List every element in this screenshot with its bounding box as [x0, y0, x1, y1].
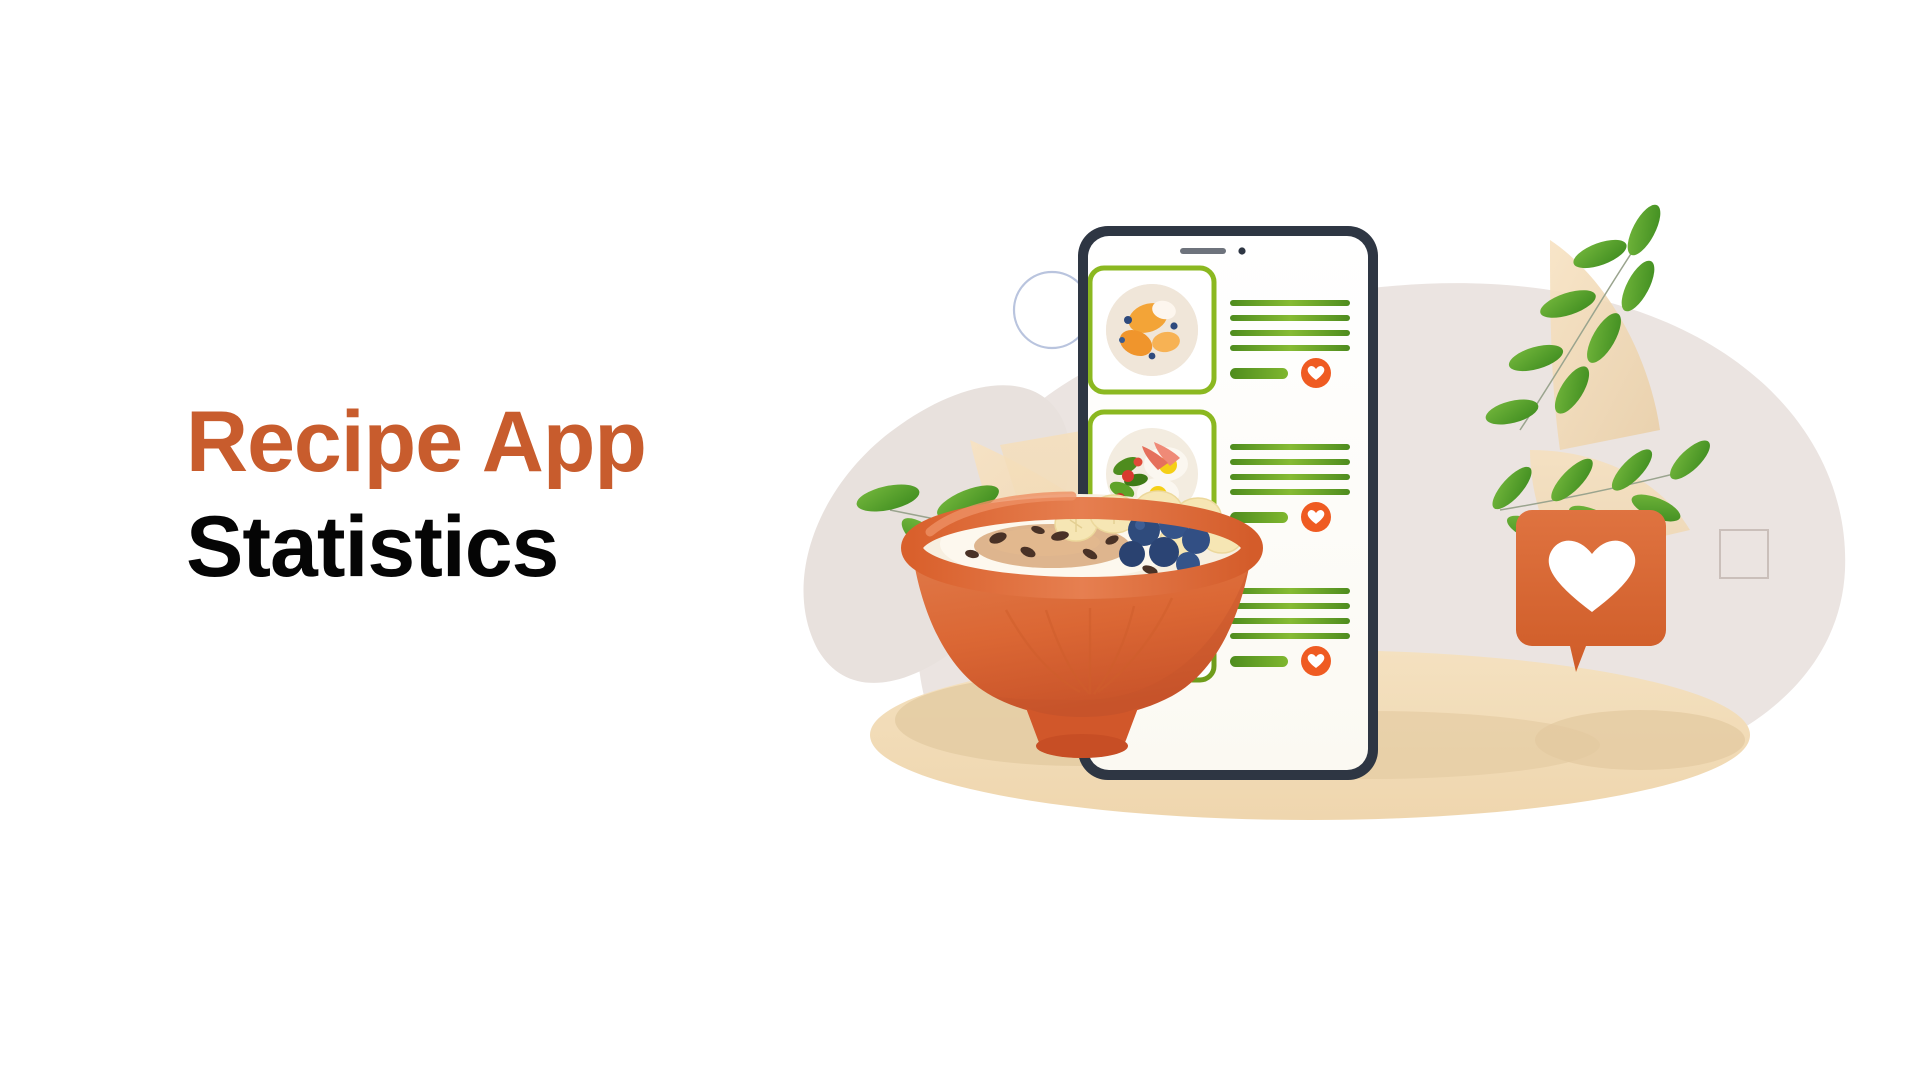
recipe-text-line [1230, 345, 1350, 351]
recipe-text-line [1230, 618, 1350, 624]
front-camera-dot [1238, 247, 1245, 254]
recipe-text-line [1230, 603, 1350, 609]
recipe-tag [1230, 656, 1288, 667]
recipe-text-line [1230, 300, 1350, 306]
badge-shadow [1535, 710, 1745, 770]
recipe-tag [1230, 368, 1288, 379]
leaf [1621, 200, 1667, 260]
recipe-text-line [1230, 459, 1350, 465]
heart-outline-icon [1301, 502, 1331, 532]
heart-outline-icon [1301, 646, 1331, 676]
peach-yogurt-bowl-thumbnail [1106, 284, 1198, 376]
recipe-text-line [1230, 330, 1350, 336]
page-root: Recipe App Statistics [0, 0, 1920, 1080]
recipe-text-line [1230, 474, 1350, 480]
page-title: Recipe App Statistics [186, 400, 826, 590]
speaker-grille [1180, 248, 1226, 254]
recipe-app-hero-illustration [760, 180, 1900, 880]
recipe-text-line [1230, 633, 1350, 639]
page-title-line-1: Recipe App [186, 400, 826, 484]
recipe-text-line [1230, 444, 1350, 450]
recipe-text-line [1230, 588, 1350, 594]
page-title-line-2: Statistics [186, 504, 826, 590]
recipe-text-line [1230, 489, 1350, 495]
recipe-text-line [1230, 315, 1350, 321]
heart-outline-icon [1301, 358, 1331, 388]
bowl-foot-base [1036, 734, 1128, 758]
